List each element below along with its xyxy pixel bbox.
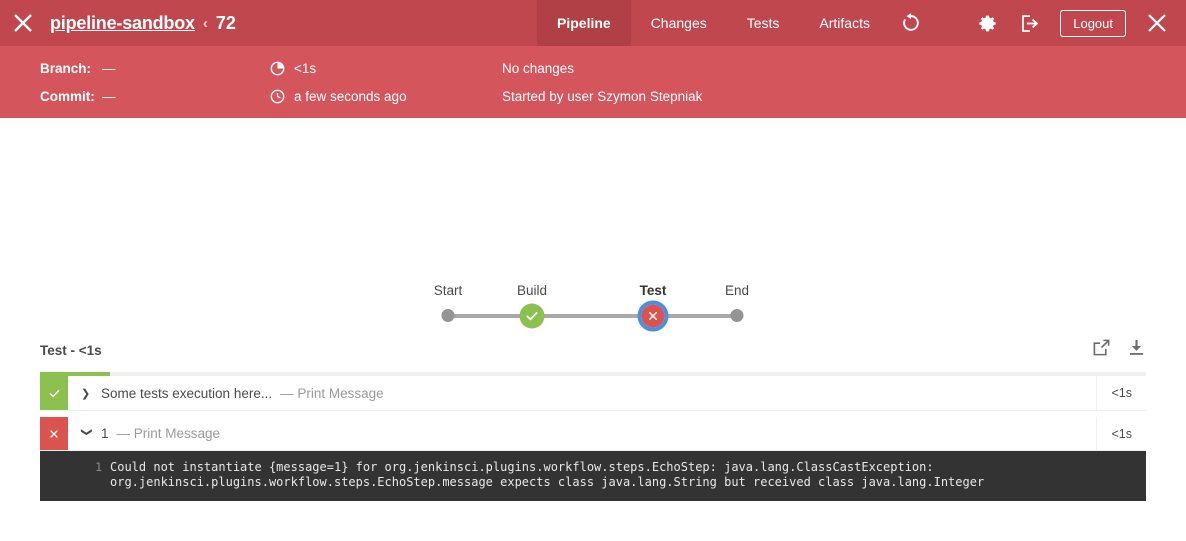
stage-log-header: Test - <1s	[40, 328, 1146, 372]
x-icon	[48, 428, 60, 440]
graph-edge	[532, 314, 653, 318]
step-subtitle: — Print Message	[117, 426, 221, 441]
top-bar: pipeline-sandbox ‹ 72 Pipeline Changes T…	[0, 0, 1186, 46]
chevron-down-icon[interactable]: ❯	[81, 428, 94, 440]
tab-pipeline[interactable]: Pipeline	[537, 0, 631, 46]
branch-row: Branch: —	[40, 54, 116, 82]
step-main[interactable]: ❯ 1 — Print Message	[68, 417, 1096, 450]
tab-tests[interactable]: Tests	[727, 0, 800, 46]
step-status-badge-failure	[40, 417, 68, 450]
step-main[interactable]: ❯ Some tests execution here... — Print M…	[68, 376, 1096, 410]
chevron-left-icon: ‹	[203, 15, 208, 32]
tab-artifacts[interactable]: Artifacts	[799, 0, 890, 46]
gear-icon	[977, 13, 998, 34]
commit-value: —	[102, 89, 116, 104]
graph-node-start[interactable]	[442, 309, 455, 322]
close-icon	[12, 12, 34, 34]
download-log-button[interactable]	[1127, 338, 1146, 362]
stage-log-title: Test - <1s	[40, 343, 102, 358]
time-ago-row: a few seconds ago	[270, 82, 407, 110]
step-status-badge-success	[40, 376, 68, 410]
step-subtitle: — Print Message	[280, 386, 384, 401]
time-ago-value: a few seconds ago	[294, 89, 407, 104]
pipeline-graph: Start Build Test End	[0, 118, 1186, 328]
clock-icon	[270, 89, 294, 104]
step-duration: <1s	[1096, 417, 1146, 450]
changes-row: No changes	[502, 54, 702, 82]
duration-pie-icon	[270, 61, 294, 76]
step-title: Some tests execution here...	[101, 386, 272, 401]
open-external-button[interactable]	[1092, 338, 1111, 362]
cause-value: Started by user Szymon Stepniak	[502, 89, 702, 104]
settings-button[interactable]	[966, 0, 1008, 46]
sign-out-button[interactable]	[1008, 0, 1050, 46]
branch-label: Branch:	[40, 61, 102, 76]
download-icon	[1127, 338, 1146, 357]
changes-value: No changes	[502, 61, 574, 76]
step-row[interactable]: ❯ Some tests execution here... — Print M…	[40, 376, 1146, 411]
cause-info: No changes Started by user Szymon Stepni…	[502, 54, 702, 110]
console-output[interactable]: 1 Could not instantiate {message=1} for …	[40, 451, 1146, 501]
exit-arrow-icon	[1019, 13, 1040, 34]
console-text: Could not instantiate {message=1} for or…	[110, 460, 1004, 490]
close-icon	[1146, 12, 1168, 34]
commit-label: Commit:	[40, 89, 102, 104]
run-number: 72	[216, 13, 236, 34]
run-info-band: Branch: — Commit: — <1s	[0, 46, 1186, 118]
graph-node-test[interactable]	[642, 305, 665, 328]
stage-log-actions	[1092, 338, 1146, 362]
stage-label-start: Start	[434, 283, 463, 298]
stage-label-build: Build	[517, 283, 547, 298]
step-title: 1	[101, 426, 109, 441]
duration-row: <1s	[270, 54, 407, 82]
tab-bar: Pipeline Changes Tests Artifacts	[537, 0, 932, 46]
stage-label-test: Test	[640, 283, 667, 298]
cause-row: Started by user Szymon Stepniak	[502, 82, 702, 110]
external-link-icon	[1092, 338, 1111, 357]
scm-info: Branch: — Commit: —	[40, 54, 116, 110]
duration-value: <1s	[294, 61, 316, 76]
step-row[interactable]: ❯ 1 — Print Message <1s	[40, 416, 1146, 451]
stage-label-end: End	[725, 283, 749, 298]
step-duration: <1s	[1096, 376, 1146, 410]
back-close-button[interactable]	[0, 0, 46, 46]
commit-row: Commit: —	[40, 82, 116, 110]
branch-value: —	[102, 61, 116, 76]
x-icon	[647, 310, 660, 323]
replay-icon	[900, 12, 922, 34]
logout-button[interactable]: Logout	[1060, 10, 1126, 37]
timing-info: <1s a few seconds ago	[270, 54, 407, 110]
console-line-number: 1	[40, 460, 110, 490]
stage-log-panel: Test - <1s	[0, 328, 1186, 501]
graph-node-build[interactable]	[520, 304, 545, 329]
close-run-button[interactable]	[1136, 0, 1178, 46]
top-bar-actions: Logout	[966, 0, 1186, 46]
tab-changes[interactable]: Changes	[631, 0, 727, 46]
check-icon	[48, 387, 61, 400]
job-name-link[interactable]: pipeline-sandbox	[50, 13, 195, 34]
check-icon	[525, 309, 540, 324]
breadcrumb: pipeline-sandbox ‹ 72	[50, 13, 236, 34]
rerun-button[interactable]	[890, 0, 932, 46]
graph-node-end[interactable]	[731, 309, 744, 322]
chevron-right-icon[interactable]: ❯	[81, 387, 93, 400]
